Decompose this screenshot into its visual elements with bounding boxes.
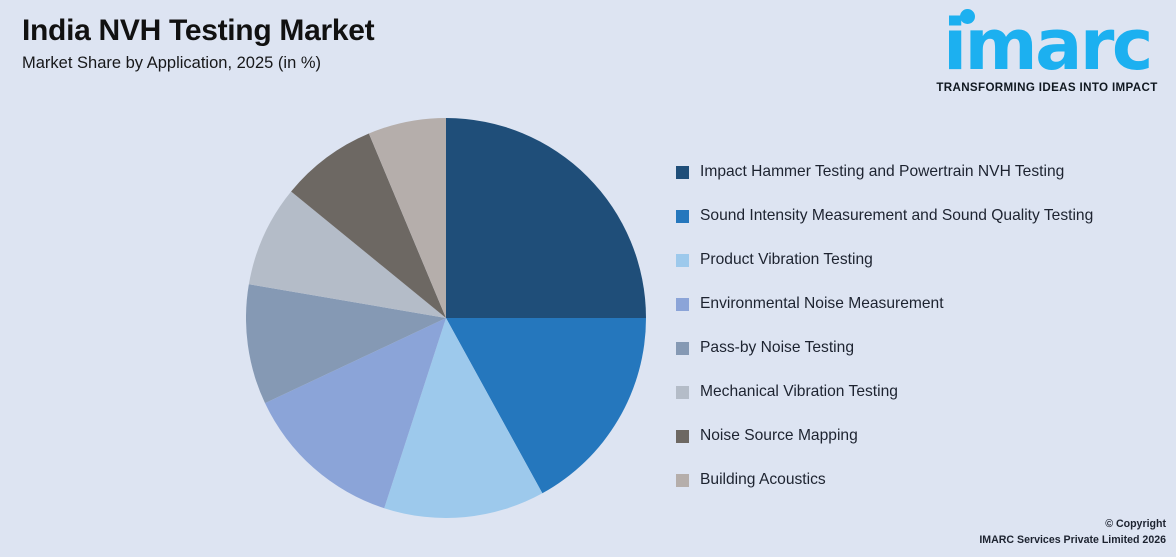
copyright-line-2: IMARC Services Private Limited 2026 [979,533,1166,548]
legend-item[interactable]: Noise Source Mapping [676,414,1172,458]
legend-label: Noise Source Mapping [700,428,858,444]
legend-label: Pass-by Noise Testing [700,340,854,356]
legend-swatch-icon [676,342,689,355]
legend-swatch-icon [676,474,689,487]
legend-swatch-icon [676,210,689,223]
chart-header: India NVH Testing Market Market Share by… [22,14,882,73]
legend-label: Product Vibration Testing [700,252,873,268]
legend-item[interactable]: Environmental Noise Measurement [676,282,1172,326]
legend-item[interactable]: Pass-by Noise Testing [676,326,1172,370]
legend-label: Sound Intensity Measurement and Sound Qu… [700,208,1093,224]
chart-subtitle: Market Share by Application, 2025 (in %) [22,54,882,74]
pie-chart-svg [246,118,646,518]
pie-chart [246,118,646,518]
legend-label: Mechanical Vibration Testing [700,384,898,400]
copyright-notice: © Copyright IMARC Services Private Limit… [979,517,1166,548]
legend-swatch-icon [676,430,689,443]
chart-canvas: India NVH Testing Market Market Share by… [0,0,1176,557]
copyright-line-1: © Copyright [979,517,1166,532]
legend-label: Building Acoustics [700,472,826,488]
logo-dot-icon [960,9,975,24]
legend-item[interactable]: Product Vibration Testing [676,238,1172,282]
legend-label: Impact Hammer Testing and Powertrain NVH… [700,164,1064,180]
legend-item[interactable]: Mechanical Vibration Testing [676,370,1172,414]
legend-swatch-icon [676,298,689,311]
logo-mark: imarc [931,8,1163,82]
chart-legend: Impact Hammer Testing and Powertrain NVH… [676,150,1172,502]
legend-label: Environmental Noise Measurement [700,296,944,312]
legend-swatch-icon [676,254,689,267]
legend-swatch-icon [676,386,689,399]
legend-item[interactable]: Building Acoustics [676,458,1172,502]
legend-item[interactable]: Sound Intensity Measurement and Sound Qu… [676,194,1172,238]
pie-slice [446,118,646,318]
legend-swatch-icon [676,166,689,179]
page-title: India NVH Testing Market [22,14,882,48]
legend-item[interactable]: Impact Hammer Testing and Powertrain NVH… [676,150,1172,194]
imarc-logo: imarc TRANSFORMING IDEAS INTO IMPACT [926,8,1168,106]
